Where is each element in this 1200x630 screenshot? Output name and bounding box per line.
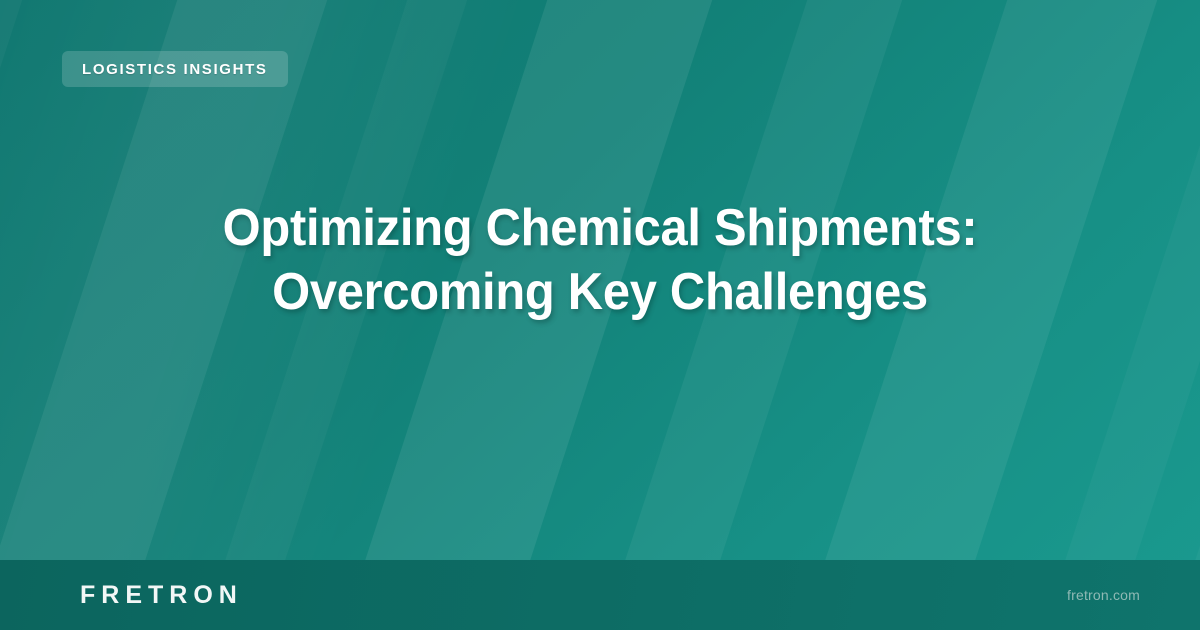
page-title-line-1: Optimizing Chemical Shipments:	[36, 196, 1164, 260]
category-badge-label: LOGISTICS INSIGHTS	[82, 62, 268, 77]
footer-bar: FRETRON fretron.com	[0, 560, 1200, 630]
page-title: Optimizing Chemical Shipments: Overcomin…	[36, 196, 1164, 324]
website-url: fretron.com	[1067, 588, 1140, 602]
page-title-line-2: Overcoming Key Challenges	[36, 260, 1164, 324]
headline-container: Optimizing Chemical Shipments: Overcomin…	[0, 196, 1200, 324]
social-share-card: LOGISTICS INSIGHTS Optimizing Chemical S…	[0, 0, 1200, 630]
brand-logo-fretron: FRETRON	[80, 583, 243, 608]
category-badge: LOGISTICS INSIGHTS	[62, 51, 288, 87]
